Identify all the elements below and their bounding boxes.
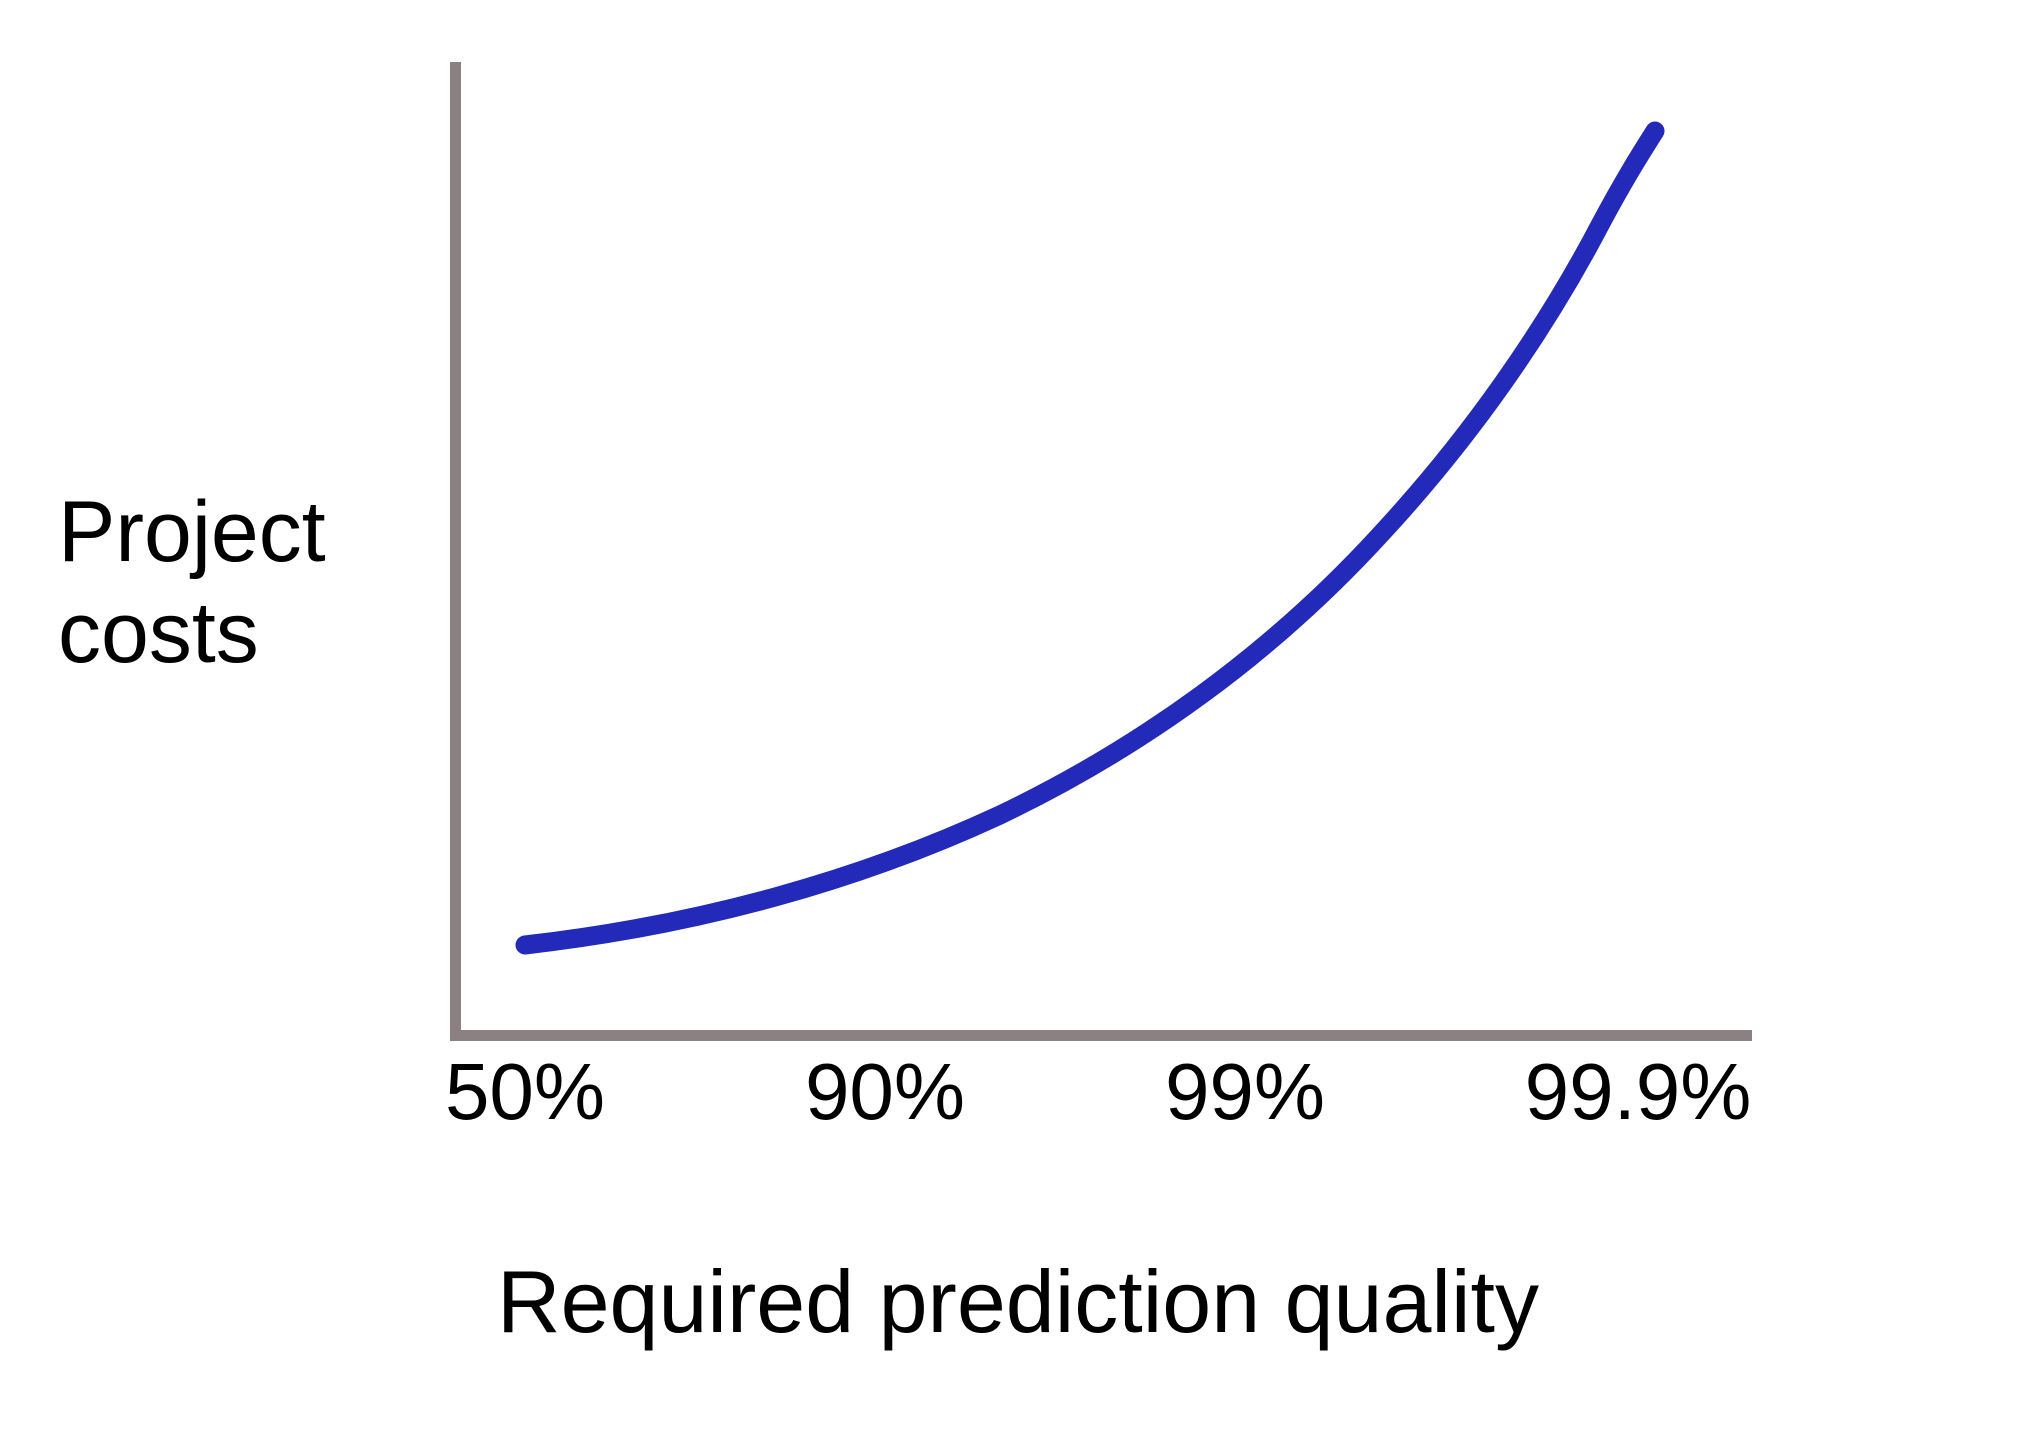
x-tick-label-2: 99% bbox=[1045, 1052, 1445, 1132]
x-axis-title: Required prediction quality bbox=[0, 1258, 2036, 1346]
cost-curve-line bbox=[525, 131, 1655, 945]
chart-canvas: Project costs 50% 90% 99% 99.9% Required… bbox=[0, 0, 2036, 1444]
x-tick-label-0: 50% bbox=[325, 1052, 725, 1132]
plot-area bbox=[0, 0, 2036, 1444]
x-tick-label-1: 90% bbox=[685, 1052, 1085, 1132]
x-tick-label-3: 99.9% bbox=[1438, 1052, 1838, 1132]
